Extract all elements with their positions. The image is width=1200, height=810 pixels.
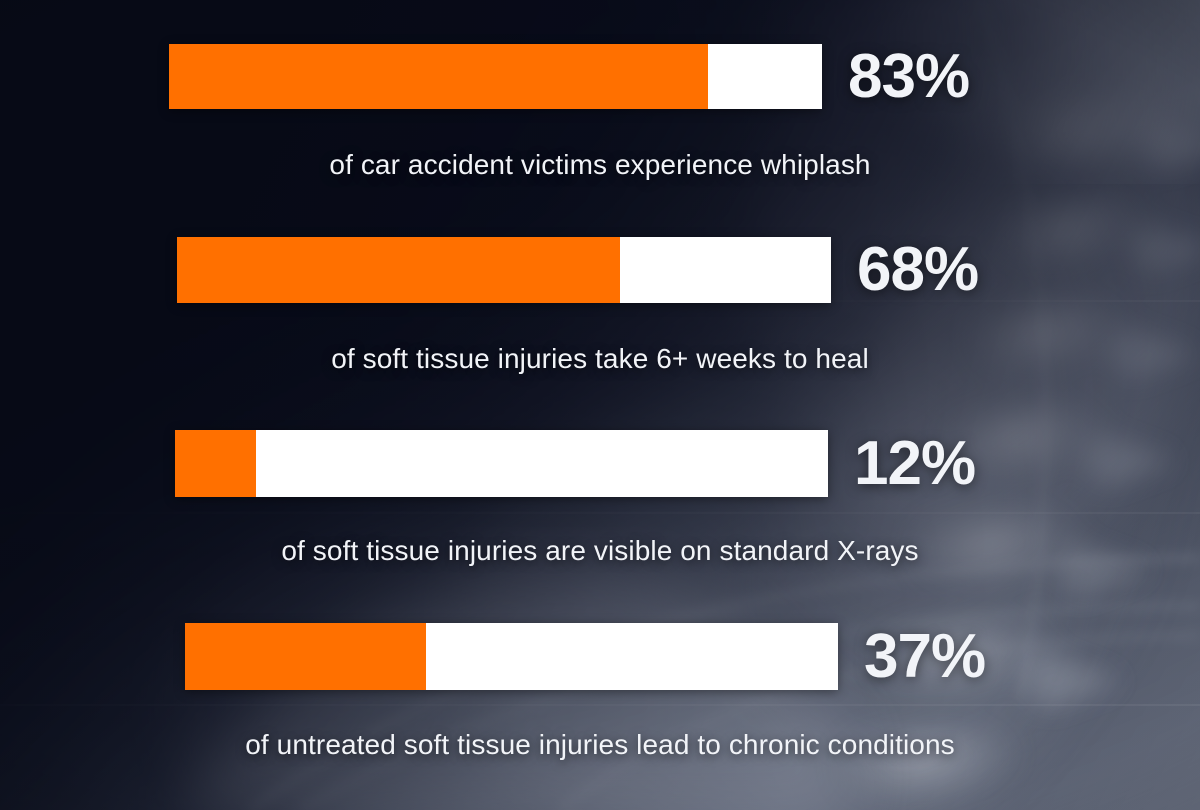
stat-caption-1: of car accident victims experience whipl… [0, 149, 1200, 181]
progress-track-1 [169, 44, 822, 109]
percent-label-2: 68% [857, 239, 978, 301]
progress-track-4 [185, 623, 838, 690]
stat-caption-4: of untreated soft tissue injuries lead t… [0, 729, 1200, 761]
progress-fill-4 [185, 623, 426, 690]
progress-bar-row-2: 68% [177, 237, 978, 303]
percent-label-4: 37% [864, 626, 985, 688]
progress-bar-row-4: 37% [185, 623, 985, 690]
percent-label-1: 83% [848, 46, 969, 108]
infographic-canvas: 83% of car accident victims experience w… [0, 0, 1200, 810]
progress-fill-3 [175, 430, 256, 497]
stat-caption-2: of soft tissue injuries take 6+ weeks to… [0, 343, 1200, 375]
progress-bar-row-3: 12% [175, 430, 975, 497]
stat-caption-3: of soft tissue injuries are visible on s… [0, 535, 1200, 567]
statistics-list: 83% of car accident victims experience w… [0, 0, 1200, 810]
progress-fill-2 [177, 237, 620, 303]
progress-track-3 [175, 430, 828, 497]
progress-fill-1 [169, 44, 708, 109]
percent-label-3: 12% [854, 433, 975, 495]
progress-bar-row-1: 83% [169, 44, 969, 109]
progress-track-2 [177, 237, 831, 303]
